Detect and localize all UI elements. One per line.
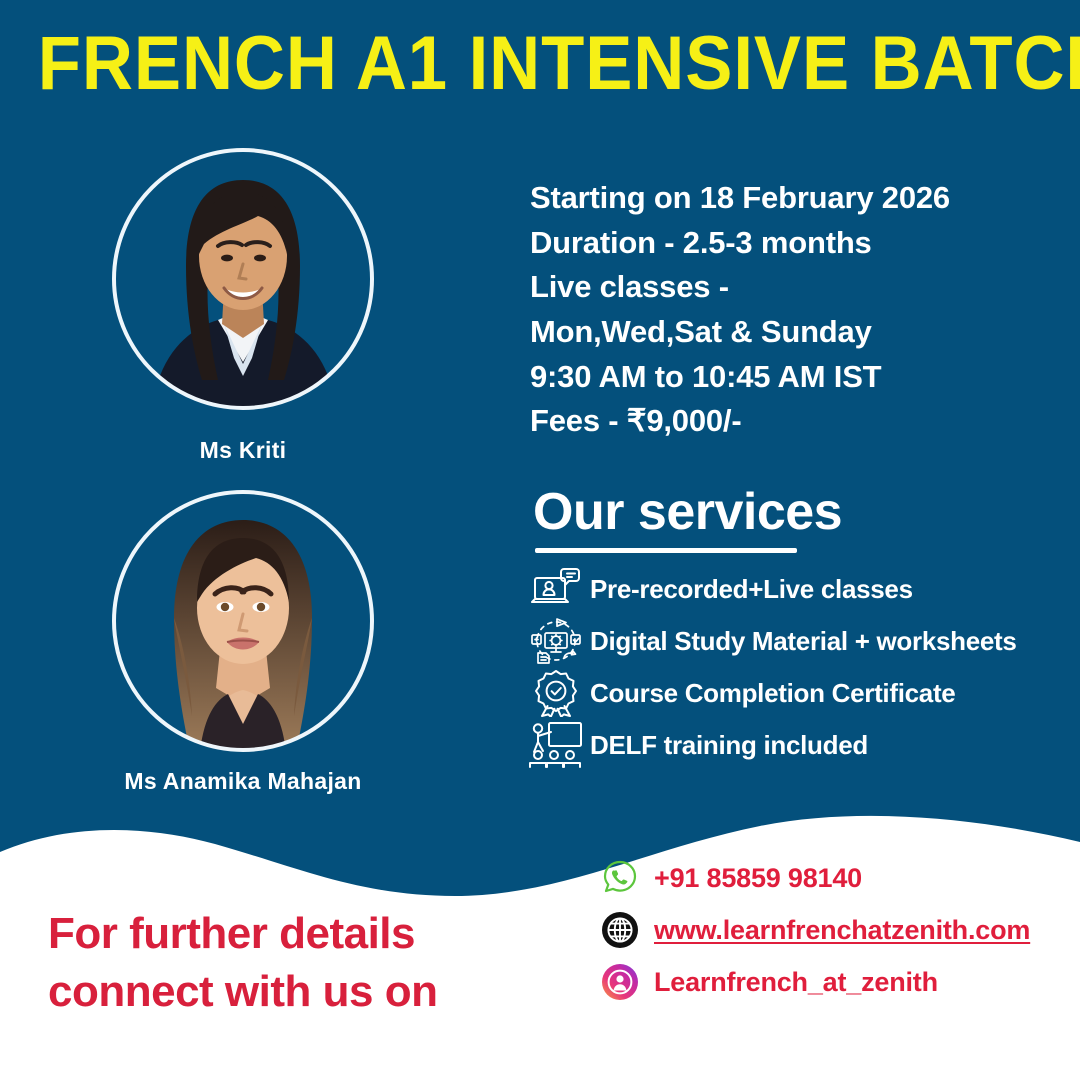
poster-canvas: FRENCH A1 INTENSIVE BATCH — [0, 0, 1080, 1080]
contact-whatsapp[interactable]: +91 85859 98140 — [596, 856, 1066, 900]
digital-study-material-icon — [528, 616, 584, 666]
service-label: Digital Study Material + worksheets — [590, 626, 1017, 657]
portrait-ring — [112, 490, 374, 752]
service-label: Pre-recorded+Live classes — [590, 574, 913, 605]
instructor-name-1: Ms Kriti — [33, 437, 453, 464]
cta-line-2: connect with us on — [48, 963, 518, 1021]
instructor-photo-2 — [112, 490, 374, 752]
detail-duration: Duration - 2.5-3 months — [530, 221, 1070, 266]
contact-instagram-handle[interactable]: Learnfrench_at_zenith — [654, 967, 938, 998]
service-item: DELF training included — [528, 719, 1080, 771]
whatsapp-icon[interactable] — [596, 856, 644, 900]
detail-class-time: 9:30 AM to 10:45 AM IST — [530, 355, 1070, 400]
service-item: Digital Study Material + worksheets — [528, 615, 1080, 667]
instructor-name-2: Ms Anamika Mahajan — [33, 768, 453, 795]
detail-live-classes-label: Live classes - — [530, 265, 1070, 310]
services-underline — [535, 548, 797, 553]
portrait-ring — [112, 148, 374, 410]
service-item: Course Completion Certificate — [528, 667, 1080, 719]
classroom-training-icon — [528, 720, 584, 770]
detail-class-days: Mon,Wed,Sat & Sunday — [530, 310, 1070, 355]
contact-instagram[interactable]: Learnfrench_at_zenith — [596, 960, 1066, 1004]
contact-website-link[interactable]: www.learnfrenchatzenith.com — [654, 915, 1030, 946]
instagram-icon[interactable] — [596, 960, 644, 1004]
globe-icon[interactable] — [596, 908, 644, 952]
service-label: Course Completion Certificate — [590, 678, 955, 709]
page-title: FRENCH A1 INTENSIVE BATCH — [38, 26, 1042, 102]
service-item: Pre-recorded+Live classes — [528, 563, 1080, 615]
services-list: Pre-recorded+Live classes — [528, 563, 1080, 771]
services-heading: Our services — [533, 486, 842, 538]
certificate-rosette-icon — [528, 668, 584, 718]
contact-phone[interactable]: +91 85859 98140 — [654, 863, 862, 894]
detail-start-date: Starting on 18 February 2026 — [530, 176, 1070, 221]
instructor-photo-1 — [112, 148, 374, 410]
contact-list: +91 85859 98140 www.learnfrenchatzenith.… — [596, 856, 1066, 1012]
service-label: DELF training included — [590, 730, 868, 761]
cta-text: For further details connect with us on — [48, 905, 518, 1021]
detail-fees: Fees - ₹9,000/- — [530, 399, 1070, 444]
contact-website[interactable]: www.learnfrenchatzenith.com — [596, 908, 1066, 952]
cta-line-1: For further details — [48, 905, 518, 963]
course-details: Starting on 18 February 2026 Duration - … — [530, 176, 1070, 444]
laptop-video-class-icon — [528, 564, 584, 614]
